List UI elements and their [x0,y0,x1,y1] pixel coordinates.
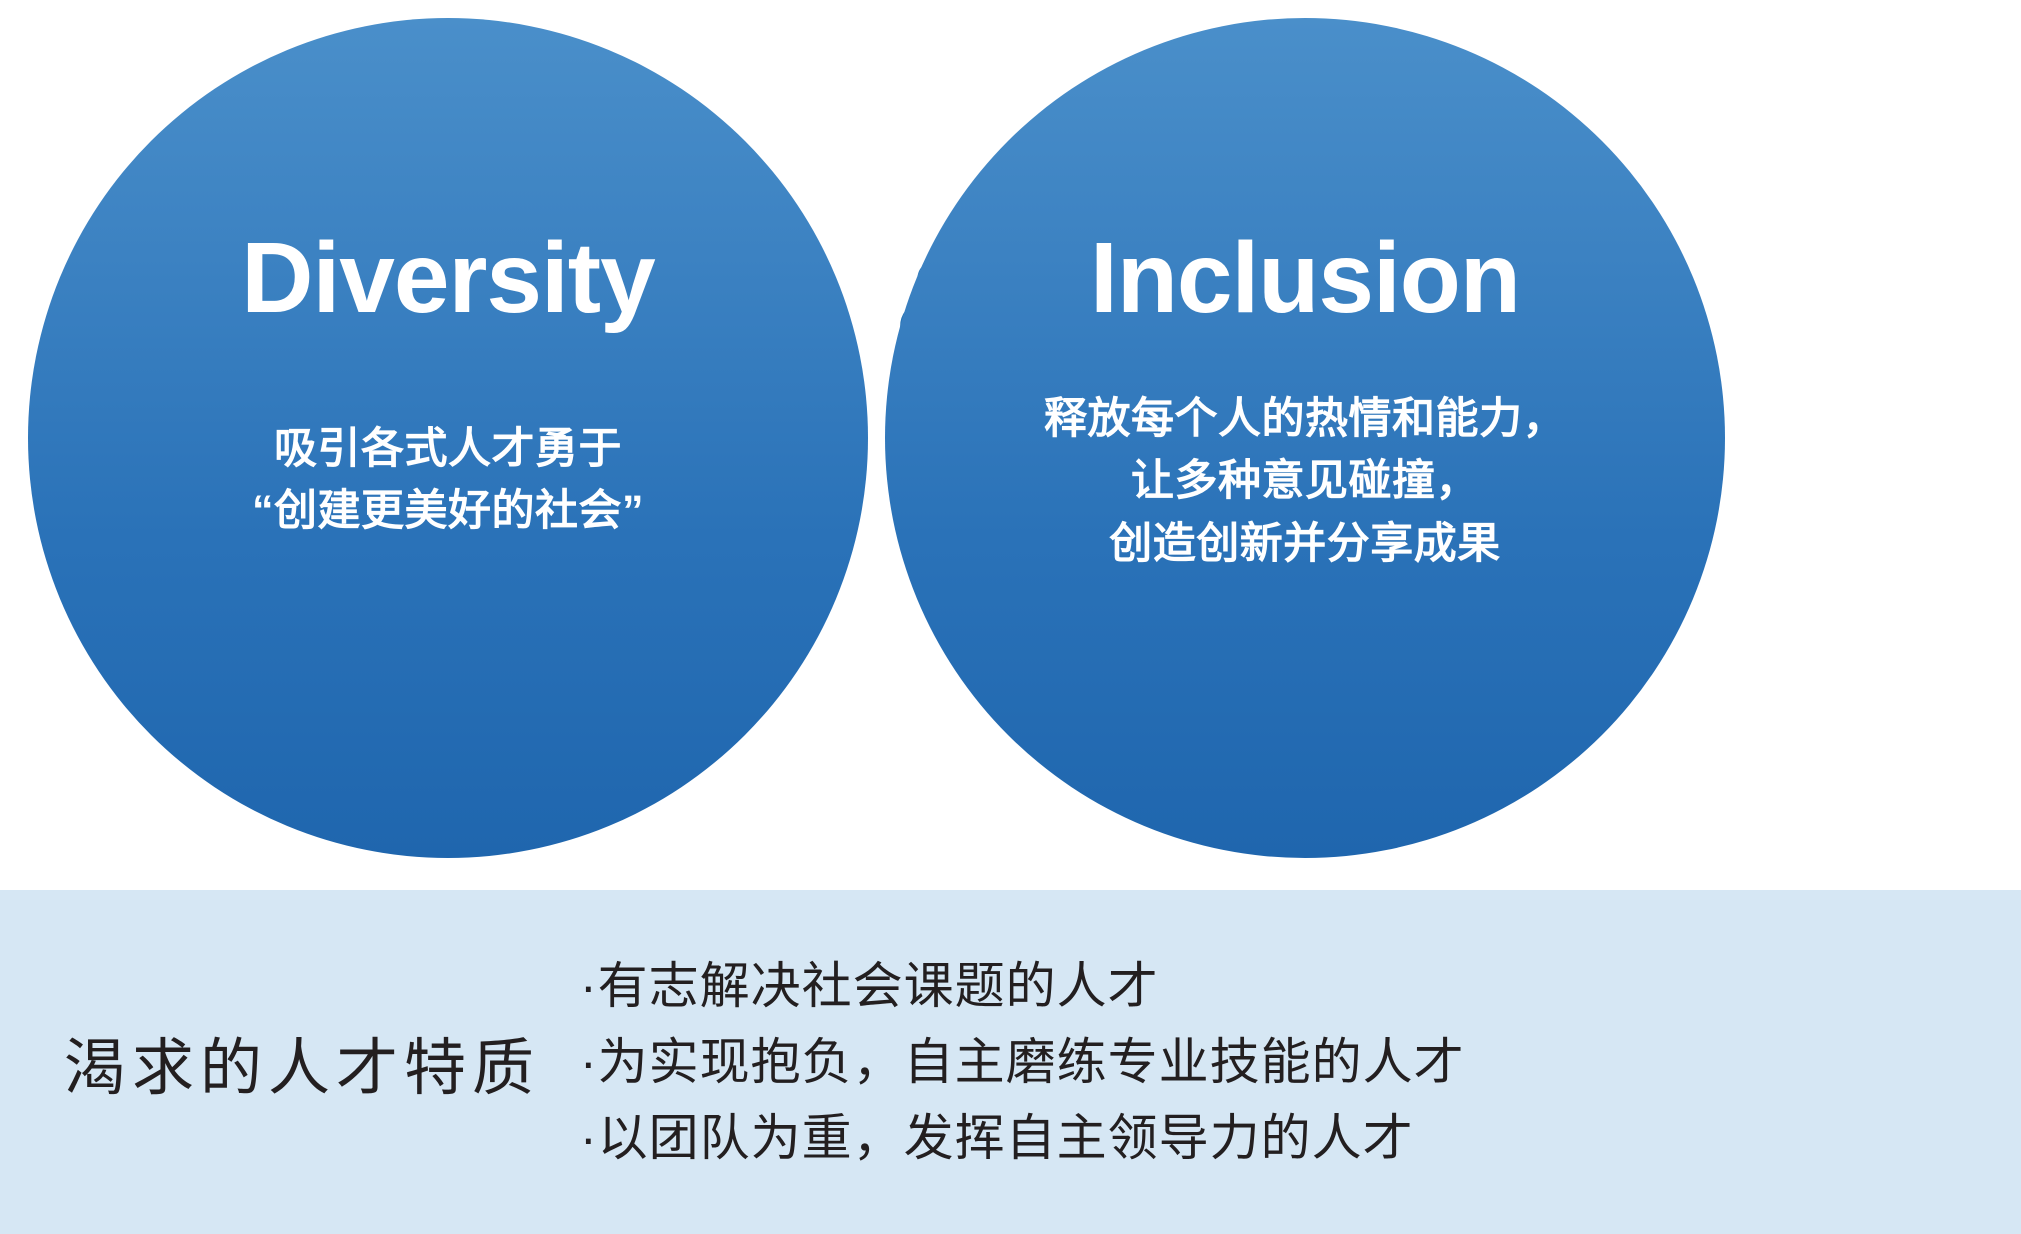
inclusion-line-3: 创造创新并分享成果 [1044,513,1566,575]
talent-traits-banner: 渴求的人才特质 ·有志解决社会课题的人才 ·为实现抱负，自主磨练专业技能的人才 … [0,890,2021,1234]
inclusion-circle: Inclusion 释放每个人的热情和能力， 让多种意见碰撞， 创造创新并分享成… [885,18,1725,858]
inclusion-line-1: 释放每个人的热情和能力， [1044,388,1566,450]
diversity-description: 吸引各式人才勇于 “创建更美好的社会” [252,418,644,543]
talent-traits-list: ·有志解决社会课题的人才 ·为实现抱负，自主磨练专业技能的人才 ·以团队为重，发… [580,935,2021,1189]
diversity-line-1: 吸引各式人才勇于 [252,418,644,480]
diversity-line-2: “创建更美好的社会” [252,480,644,542]
talent-traits-label: 渴求的人才特质 [0,1017,580,1107]
inclusion-title: Inclusion [1090,228,1520,328]
inclusion-description: 释放每个人的热情和能力， 让多种意见碰撞， 创造创新并分享成果 [1044,388,1566,575]
diversity-circle: Diversity 吸引各式人才勇于 “创建更美好的社会” [28,18,868,858]
diversity-title: Diversity [241,228,654,328]
inclusion-line-2: 让多种意见碰撞， [1044,450,1566,512]
diversity-inclusion-diagram: Diversity 吸引各式人才勇于 “创建更美好的社会” & Inclusio… [0,0,2021,890]
list-item: ·以团队为重，发挥自主领导力的人才 [580,1113,2021,1163]
list-item: ·为实现抱负，自主磨练专业技能的人才 [580,1037,2021,1087]
list-item: ·有志解决社会课题的人才 [580,961,2021,1011]
